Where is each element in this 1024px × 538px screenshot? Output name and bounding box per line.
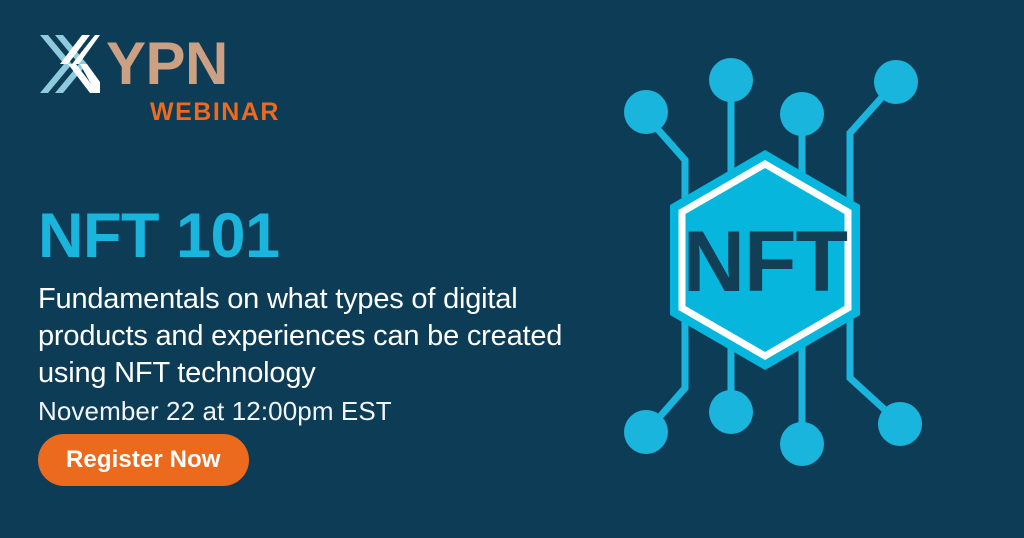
banner-left-column: YPN WEBINAR NFT 101 Fundamentals on what… — [38, 0, 598, 538]
nft-hexagon-network-icon: NFT — [600, 38, 960, 498]
subheadline-description: Fundamentals on what types of digital pr… — [38, 281, 586, 392]
node-top-center-right — [780, 92, 824, 136]
hexagon-nft-label: NFT — [683, 214, 848, 310]
page-title: NFT 101 — [38, 205, 280, 268]
node-bottom-center-right — [780, 422, 824, 466]
logo-subtitle-webinar: WEBINAR — [150, 100, 280, 125]
webinar-promo-banner: YPN WEBINAR NFT 101 Fundamentals on what… — [0, 0, 1024, 538]
brand-logo-lockup[interactable]: YPN WEBINAR — [38, 28, 298, 136]
x-chevron-logo-icon — [38, 31, 100, 97]
node-bottom-center-left — [709, 390, 753, 434]
logo-wordmark: YPN — [106, 34, 228, 94]
node-bottom-right — [878, 402, 922, 446]
node-top-right — [874, 60, 918, 104]
logo-row: YPN — [38, 28, 298, 100]
node-top-left — [624, 90, 668, 134]
register-now-button[interactable]: Register Now — [38, 434, 249, 486]
event-datetime: November 22 at 12:00pm EST — [38, 398, 392, 424]
node-bottom-left — [624, 410, 668, 454]
connector-bottom-right — [850, 300, 896, 420]
nft-hexagon-network-illustration: NFT — [600, 38, 960, 498]
node-top-center-left — [709, 58, 753, 102]
